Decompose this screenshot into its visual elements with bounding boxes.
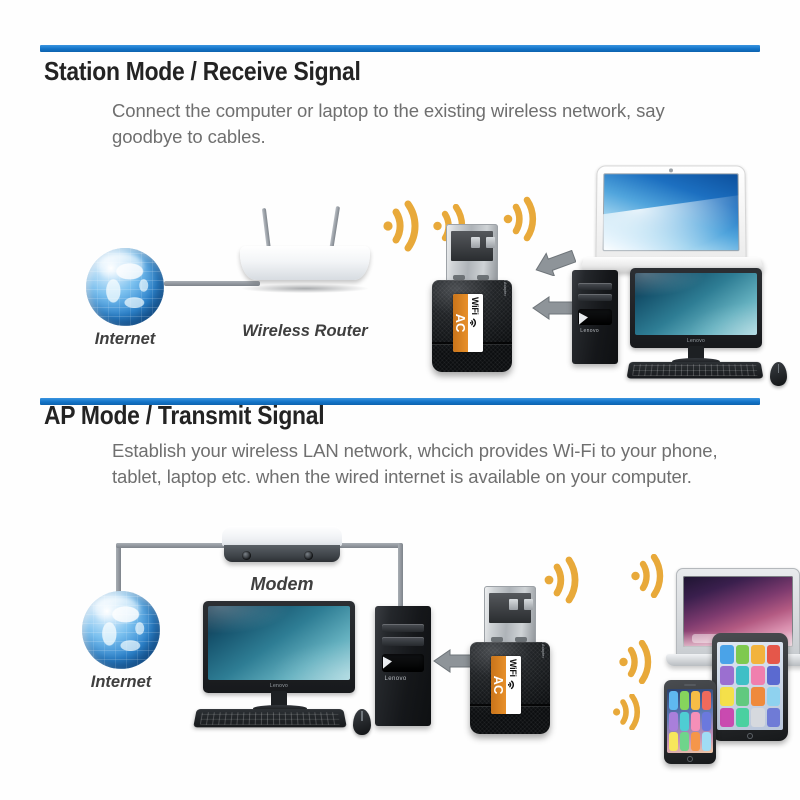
modem-port-right bbox=[304, 551, 313, 560]
usb-pin-right bbox=[486, 237, 495, 248]
usb-label-wifi-row: WiFi bbox=[468, 294, 483, 352]
tower-drive-bay-1 bbox=[578, 283, 613, 290]
label-wireless-router: Wireless Router bbox=[235, 322, 375, 341]
section-station-mode: Station Mode / Receive Signal Connect th… bbox=[0, 0, 800, 388]
arrow-left-icon-to-laptop bbox=[534, 250, 576, 276]
usb-label-wifi-text: WiFi bbox=[471, 297, 480, 315]
desktop-computer-icon: Lenovo Lenovo bbox=[572, 268, 792, 378]
usb-adapter-label-2: WiFi AC bbox=[491, 656, 521, 714]
usb-adapter-body: WiFi AC bbox=[432, 280, 512, 372]
usb-label-ac-badge: AC bbox=[453, 294, 468, 352]
laptop-lid bbox=[595, 165, 746, 259]
router-body bbox=[240, 246, 370, 280]
section-title-station-mode: Station Mode / Receive Signal bbox=[44, 56, 361, 87]
cable-pc-vertical bbox=[398, 543, 403, 611]
tower-brand-logo-2: Lenovo bbox=[385, 676, 407, 682]
section-divider-rule bbox=[40, 45, 760, 52]
tower-power-glyph bbox=[579, 312, 588, 325]
phone-screen bbox=[667, 689, 713, 753]
wifi-signal-icon-7 bbox=[612, 694, 644, 730]
label-modem: Modem bbox=[222, 574, 342, 595]
globe-icon bbox=[86, 248, 164, 326]
usb-connector-2 bbox=[484, 586, 536, 648]
laptop-screen bbox=[603, 173, 740, 251]
usb-label-ac-text-2: AC bbox=[492, 676, 505, 695]
arrow-left-icon-to-desktop bbox=[532, 296, 576, 320]
desktop-monitor-group: Lenovo bbox=[203, 601, 383, 741]
section-body-ap-mode: Establish your wireless LAN network, whc… bbox=[112, 438, 732, 490]
monitor-icon: Lenovo bbox=[630, 268, 762, 348]
tower-drive-bay-2 bbox=[578, 294, 613, 301]
wifi-signal-icon bbox=[382, 200, 428, 252]
mouse-icon bbox=[770, 362, 787, 386]
usb-label-ac-text: AC bbox=[454, 314, 467, 333]
monitor-brand-logo-2: Lenovo bbox=[208, 681, 350, 691]
usb-pin-left-2 bbox=[509, 599, 518, 610]
section-ap-mode: AP Mode / Transmit Signal Establish your… bbox=[0, 388, 800, 800]
label-internet-station: Internet bbox=[76, 330, 174, 349]
cable-internet-to-modem bbox=[116, 543, 226, 548]
modem-port-left bbox=[242, 551, 251, 560]
modem-bottom-shell bbox=[224, 545, 340, 562]
usb-adapter-label: WiFi AC bbox=[453, 294, 483, 352]
tablet-icon bbox=[712, 633, 788, 741]
monitor-icon-2: Lenovo bbox=[203, 601, 355, 693]
modem-top-shell bbox=[222, 526, 342, 546]
usb-wifi-adapter-icon: WiFi AC bbox=[432, 224, 512, 376]
modem-icon bbox=[222, 526, 342, 566]
usb-pin-right-2 bbox=[524, 599, 533, 610]
globe-icon-2 bbox=[82, 591, 160, 669]
wifi-signal-icon-5 bbox=[630, 554, 670, 598]
usb-label-ac-badge-2: AC bbox=[491, 656, 506, 714]
phone-speaker bbox=[684, 684, 696, 686]
tower-drive-bay-2b bbox=[382, 637, 425, 645]
keyboard-icon-2 bbox=[193, 709, 347, 727]
usb-pin-left bbox=[471, 237, 480, 248]
monitor-screen-2 bbox=[208, 606, 350, 680]
infographic-page: Station Mode / Receive Signal Connect th… bbox=[0, 0, 800, 800]
section-title-ap-mode: AP Mode / Transmit Signal bbox=[44, 400, 324, 431]
usb-label-side-text-2: Wireless Dual Band Adapter bbox=[541, 642, 545, 658]
label-internet-ap: Internet bbox=[72, 673, 170, 692]
wireless-router-icon bbox=[240, 208, 370, 294]
globe-highlight bbox=[98, 253, 143, 280]
keyboard-icon bbox=[627, 362, 764, 379]
usb-label-wifi-row-2: WiFi bbox=[506, 656, 521, 714]
usb-wifi-adapter-icon-2: WiFi AC bbox=[470, 586, 550, 738]
mouse-icon-2 bbox=[353, 709, 371, 735]
usb-adapter-body-2: WiFi AC bbox=[470, 642, 550, 734]
section-body-station-mode: Connect the computer or laptop to the ex… bbox=[112, 98, 732, 150]
cable-internet-vertical bbox=[116, 543, 121, 593]
tablet-home-button bbox=[747, 733, 753, 739]
usb-label-wifi-text-2: WiFi bbox=[509, 659, 518, 677]
globe-highlight-2 bbox=[94, 596, 139, 623]
wifi-signal-icon-6 bbox=[618, 640, 658, 684]
router-shadow bbox=[242, 284, 368, 293]
tablet-screen bbox=[717, 642, 783, 730]
monitor-screen bbox=[635, 273, 757, 335]
tower-pc-icon-2: Lenovo bbox=[375, 606, 431, 726]
tower-power-glyph-2 bbox=[383, 656, 392, 669]
tower-brand-logo: Lenovo bbox=[580, 328, 599, 334]
phone-home-button bbox=[687, 756, 693, 762]
usb-connector bbox=[446, 224, 498, 286]
laptop-camera bbox=[669, 168, 673, 172]
wifi-arc-icon bbox=[470, 317, 480, 329]
wifi-arc-icon-2 bbox=[508, 679, 518, 691]
tower-drive-bay-1b bbox=[382, 624, 425, 632]
monitor-brand-logo: Lenovo bbox=[635, 336, 757, 346]
tower-pc-icon: Lenovo bbox=[572, 270, 618, 364]
usb-label-side-text: Wireless Dual Band Adapter bbox=[503, 280, 507, 296]
smartphone-icon bbox=[664, 680, 716, 764]
